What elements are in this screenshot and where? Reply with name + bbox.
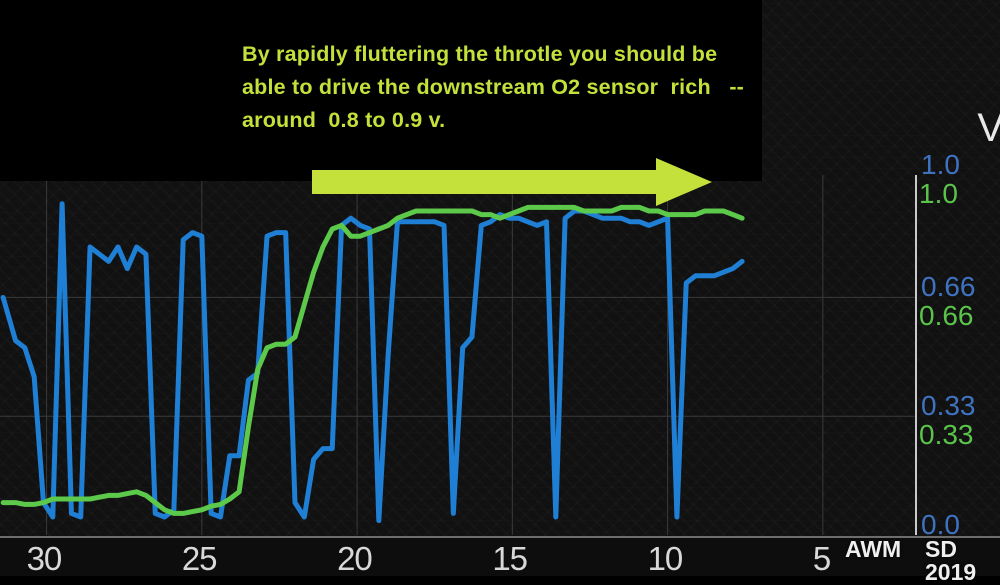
x-axis-tick: 15 xyxy=(492,540,527,578)
x-axis-tick: 30 xyxy=(27,540,62,578)
y-axis-tick-blue: 0.0 xyxy=(921,511,960,539)
watermark-copyright: SD 2019 xyxy=(925,538,1000,584)
x-axis-tick: 20 xyxy=(337,540,372,578)
x-axis-tick: 25 xyxy=(182,540,217,578)
x-axis-tick: 5 xyxy=(813,540,830,578)
y-axis-tick-green: 1.0 xyxy=(919,180,958,208)
annotation-arrow-icon xyxy=(312,158,712,210)
y-axis-tick-blue: 0.66 xyxy=(921,273,976,301)
y-axis-tick-blue: 1.0 xyxy=(921,151,960,179)
annotation-overlay: By rapidly fluttering the throtle you sh… xyxy=(0,0,762,181)
watermark-author: AWM xyxy=(845,538,901,561)
y-axis-line xyxy=(915,175,917,535)
series-line xyxy=(3,204,742,521)
plot-area xyxy=(0,175,916,535)
y-axis-unit-label: V xyxy=(977,108,1000,148)
annotation-line-2: able to drive the downstream O2 sensor r… xyxy=(242,71,752,104)
x-axis-tick: 10 xyxy=(648,540,683,578)
y-axis-tick-green: 0.33 xyxy=(919,421,974,449)
y-axis-tick-blue: 0.33 xyxy=(921,392,976,420)
annotation-line-3: around 0.8 to 0.9 v. xyxy=(242,104,752,137)
annotation-text: By rapidly fluttering the throtle you sh… xyxy=(242,38,752,137)
annotation-line-1: By rapidly fluttering the throtle you sh… xyxy=(242,38,752,71)
y-axis-tick-green: 0.66 xyxy=(919,302,974,330)
chart-series xyxy=(0,175,916,535)
